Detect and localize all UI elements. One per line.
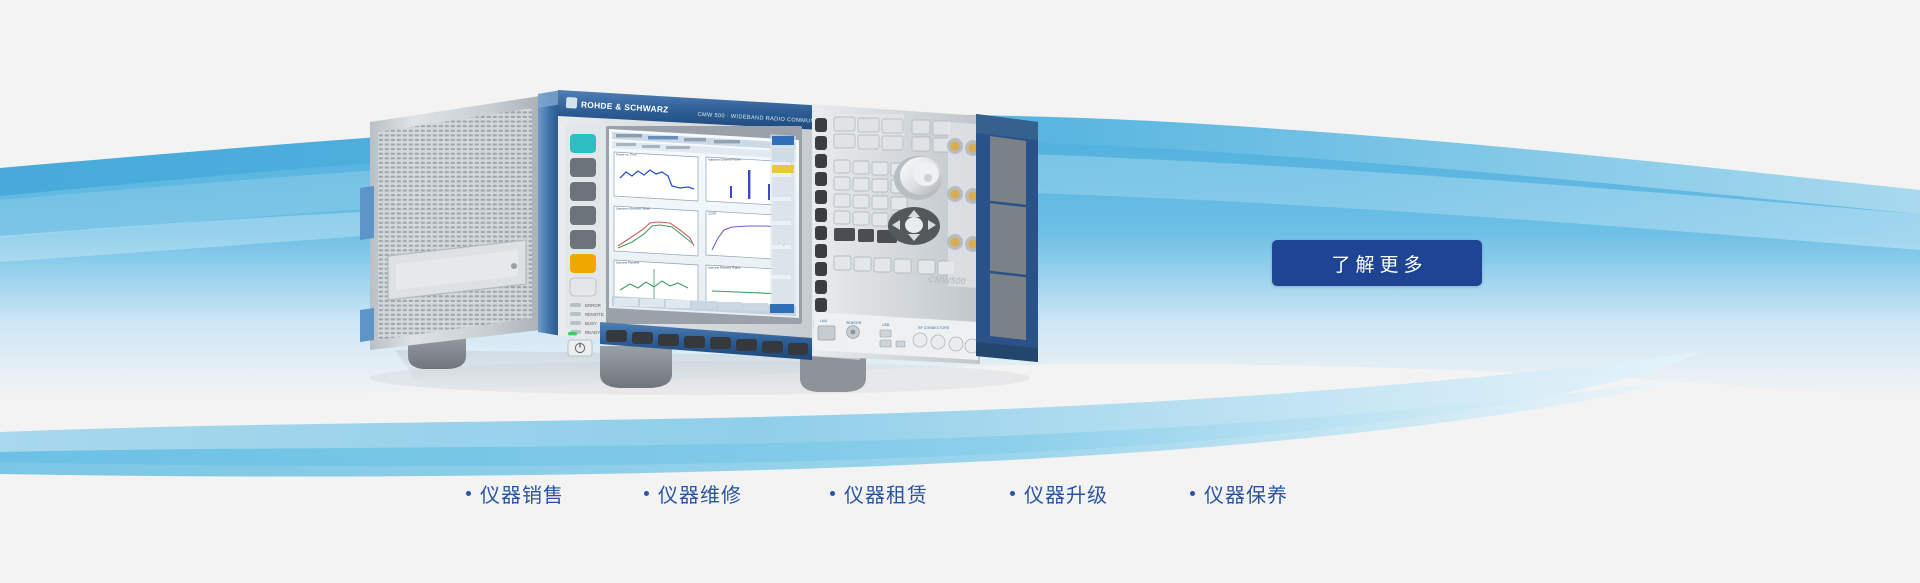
svg-text:ERROR: ERROR [585,303,601,308]
svg-text:Spectral Flatness Ripple: Spectral Flatness Ripple [708,266,741,270]
service-link-instrument-repair[interactable]: 仪器维修 [644,479,742,508]
learn-more-button[interactable]: 了解更多 [1272,240,1482,286]
svg-text:RF CONNECTORS: RF CONNECTORS [918,326,950,330]
svg-text:REMOTE: REMOTE [585,312,604,317]
service-link-label: 仪器租赁 [844,479,928,508]
svg-text:Spectrum Emission Mask: Spectrum Emission Mask [616,207,650,211]
svg-text:SENSOR: SENSOR [846,321,862,325]
bullet-icon [466,491,471,496]
bullet-icon [830,491,835,496]
svg-text:Spectral Flatness: Spectral Flatness [616,261,640,265]
bullet-icon [644,491,649,496]
service-link-label: 仪器保养 [1204,479,1288,508]
svg-text:CCDF: CCDF [708,212,716,216]
service-link-instrument-rental[interactable]: 仪器租赁 [830,479,928,508]
rf-connector-bank [947,122,981,288]
vertical-tab-keys [815,118,827,312]
bullet-icon [1190,491,1195,496]
service-link-label: 仪器升级 [1024,479,1108,508]
service-link-instrument-maintenance[interactable]: 仪器保养 [1190,479,1288,508]
service-link-instrument-sales[interactable]: 仪器销售 [466,479,564,508]
power-button [568,340,592,356]
carry-handle [976,114,1038,362]
service-link-instrument-upgrade[interactable]: 仪器升级 [1010,479,1108,508]
svg-text:Power vs. Time: Power vs. Time [616,153,637,157]
instrument-side-panel [360,96,540,350]
screen-side-softkeys [770,134,796,310]
service-link-label: 仪器销售 [480,479,564,508]
rotary-knob [894,156,942,200]
svg-text:USB: USB [882,323,890,327]
svg-text:Adjacent Channel Power: Adjacent Channel Power [708,158,741,162]
svg-text:LAN: LAN [820,319,827,323]
dpad-navigation [888,207,940,245]
svg-text:BUSY: BUSY [585,321,597,326]
service-links: 仪器销售 仪器维修 仪器租赁 仪器升级 仪器保养 [0,468,1920,518]
instrument-illustration: ROHDE & SCHWARZ CMW 500 · WIDEBAND RADIO… [300,60,1120,400]
service-link-label: 仪器维修 [658,479,742,508]
hero-banner: ROHDE & SCHWARZ CMW 500 · WIDEBAND RADIO… [0,0,1920,583]
bullet-icon [1010,491,1015,496]
svg-text:READY: READY [585,330,600,335]
side-function-keys: ERROR REMOTE BUSY READY [566,124,604,356]
control-panel: CMW500 LAN SENSOR USB RF CONNECTORS [812,104,981,364]
instrument-display: Power vs. Time Adjacent Channel Power Sp… [606,126,802,324]
